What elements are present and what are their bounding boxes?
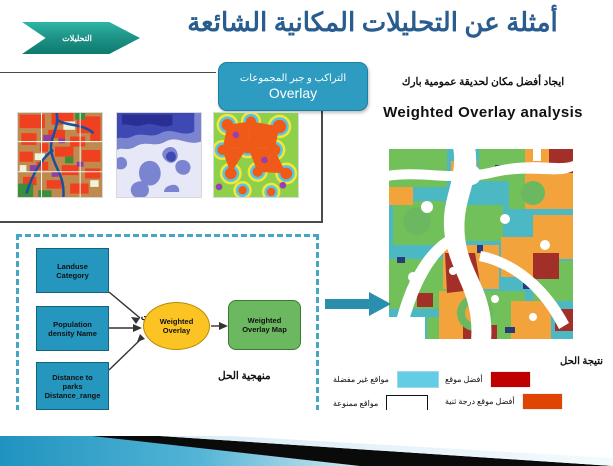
distance-to-parks-raster-thumbnail xyxy=(213,112,299,198)
flow-node-output-line1: Weighted xyxy=(248,316,282,325)
flow-node-landuse-line1: Landuse xyxy=(57,262,88,271)
flow-node-landuse-line2: Category xyxy=(56,271,89,280)
flow-node-population-line1: Population xyxy=(53,320,92,329)
flow-node-population-density: Population density Name xyxy=(36,306,109,351)
flow-node-process-line1: Weighted xyxy=(160,317,194,326)
population-density-raster-thumbnail xyxy=(116,112,202,198)
landuse-raster-thumbnail xyxy=(17,112,103,198)
legend-swatch-best-site xyxy=(491,372,530,387)
chevron-banner: التحليلات xyxy=(22,22,140,54)
legend-swatch-second-best-site xyxy=(523,394,562,409)
flow-node-distance-line2: parks xyxy=(62,382,82,391)
legend-item: أفضل موقع xyxy=(445,372,605,387)
overlay-callout-arabic: التراكب و جبر المجموعات xyxy=(240,73,346,85)
overlay-callout: التراكب و جبر المجموعات Overlay xyxy=(218,62,368,111)
overlay-callout-english: Overlay xyxy=(269,85,317,101)
weighted-overlay-result-map xyxy=(383,141,579,345)
flow-arrow-to-result-icon xyxy=(325,292,391,316)
legend-item: مواقع غير مفضلة xyxy=(333,371,451,388)
flow-node-weighted-overlay-process: Weighted Overlay xyxy=(143,302,210,350)
legend-label-second-best-site: أفضل موقع درجة ثنية xyxy=(445,397,515,406)
flow-node-distance-line1: Distance to xyxy=(52,373,92,382)
slide-canvas: التحليلات أمثلة عن التحليلات المكانية ال… xyxy=(0,0,613,466)
legend-label-best-site: أفضل موقع xyxy=(445,375,483,384)
legend-item: أفضل موقع درجة ثنية xyxy=(445,394,605,409)
flow-node-distance-to-parks: Distance to parks Distance_range xyxy=(36,362,109,410)
legend-label-less-preferred: مواقع غير مفضلة xyxy=(333,375,389,384)
bottom-decoration xyxy=(0,410,613,466)
analysis-subtitle: ايجاد أفضل مكان لحديقة عمومية بارك xyxy=(363,76,603,88)
flow-node-process-line2: Overlay xyxy=(163,326,191,335)
legend-label-restricted: مواقع ممنوعة xyxy=(333,399,378,408)
flow-node-population-line2: density Name xyxy=(48,329,97,338)
page-title: أمثلة عن التحليلات المكانية الشائعة xyxy=(146,8,599,38)
analysis-heading: Weighted Overlay analysis xyxy=(363,104,603,121)
methodology-label: منهجية الحل xyxy=(218,370,271,382)
input-thumbnails: المدخلات xyxy=(0,108,320,200)
flow-node-weighted-overlay-map: Weighted Overlay Map xyxy=(228,300,301,350)
legend-result-heading: نتيجة الحل xyxy=(445,356,605,367)
flow-node-output-line2: Overlay Map xyxy=(242,325,287,334)
chevron-label: التحليلات xyxy=(62,34,100,43)
legend-swatch-less-preferred xyxy=(397,371,439,388)
flow-node-distance-line3: Distance_range xyxy=(45,391,101,400)
flow-node-landuse: Landuse Category xyxy=(36,248,109,293)
